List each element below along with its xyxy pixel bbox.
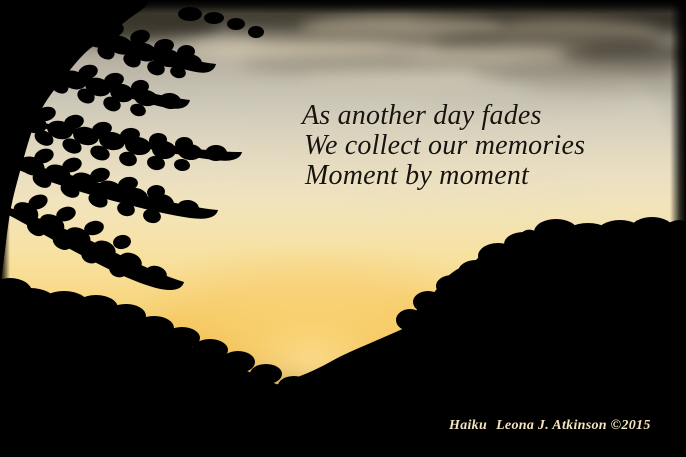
silhouette-layer (0, 0, 686, 457)
sunset-haiku-image: As another day fades We collect our memo… (0, 0, 686, 457)
credit-copyright: ©2015 (611, 418, 651, 433)
top-edge-twigs (178, 7, 264, 38)
haiku-line-2: We collect our memories (304, 131, 662, 161)
haiku-line-3: Moment by moment (305, 161, 662, 191)
haiku-text-block: As another day fades We collect our memo… (302, 101, 662, 191)
credit-form-label: Haiku (449, 418, 487, 433)
credit-line: HaikuLeona J. Atkinson ©2015 (449, 417, 651, 435)
haiku-line-1: As another day fades (302, 101, 662, 131)
credit-author: Leona J. Atkinson (496, 418, 607, 433)
